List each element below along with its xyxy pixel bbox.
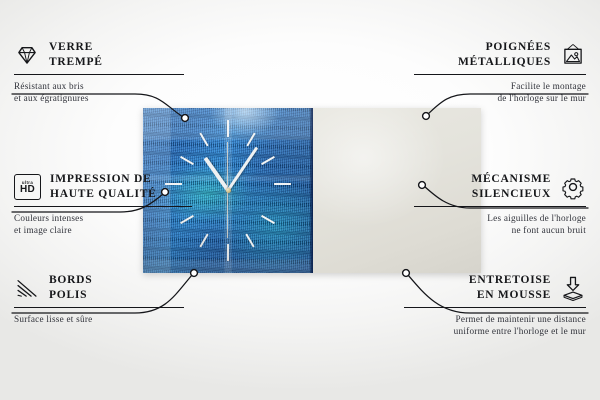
callout-header: ENTRETOISE EN MOUSSE bbox=[404, 273, 586, 303]
badge-main-text: HD bbox=[20, 185, 35, 195]
callout-impression-haute-qualite: ultra HD IMPRESSION DE HAUTE QUALITÉ Cou… bbox=[14, 172, 192, 237]
title-line-2: EN MOUSSE bbox=[477, 289, 551, 301]
callout-subtitle: Surface lisse et sûre bbox=[14, 313, 184, 325]
callout-entretoise-en-mousse: ENTRETOISE EN MOUSSE Permet de maintenir… bbox=[404, 273, 586, 338]
tick-11 bbox=[199, 133, 208, 147]
tick-7 bbox=[199, 234, 208, 248]
callout-divider bbox=[14, 307, 184, 308]
callout-header: BORDS POLIS bbox=[14, 273, 184, 303]
title-line-1: POIGNÉES bbox=[486, 41, 551, 53]
tick-2 bbox=[261, 156, 275, 165]
callout-title: MÉCANISME SILENCIEUX bbox=[471, 172, 551, 202]
callout-header: POIGNÉES MÉTALLIQUES bbox=[414, 40, 586, 70]
callout-bords-polis: BORDS POLIS Surface lisse et sûre bbox=[14, 273, 184, 325]
callout-verre-trempe: VERRE TREMPÉ Résistant aux bris et aux é… bbox=[14, 40, 184, 105]
subtitle-line-1: Les aiguilles de l'horloge bbox=[487, 213, 586, 223]
callout-subtitle: Les aiguilles de l'horloge ne font aucun… bbox=[414, 212, 586, 236]
subtitle-line-1: Couleurs intenses bbox=[14, 213, 83, 223]
arrow-down-onto-layer-icon bbox=[560, 275, 586, 301]
subtitle-line-2: et aux égratignures bbox=[14, 93, 89, 103]
subtitle-line-1: Surface lisse et sûre bbox=[14, 314, 92, 324]
tick-12 bbox=[227, 120, 229, 137]
callout-subtitle: Résistant aux bris et aux égratignures bbox=[14, 80, 184, 104]
callout-poignees-metalliques: POIGNÉES MÉTALLIQUES Facilite le montage… bbox=[414, 40, 586, 105]
callout-title: IMPRESSION DE HAUTE QUALITÉ bbox=[50, 172, 157, 202]
gear-icon bbox=[560, 174, 586, 200]
subtitle-line-1: Résistant aux bris bbox=[14, 81, 84, 91]
callout-divider bbox=[404, 307, 586, 308]
callout-subtitle: Couleurs intenses et image claire bbox=[14, 212, 192, 236]
title-line-2: MÉTALLIQUES bbox=[458, 56, 551, 68]
infographic-canvas: VERRE TREMPÉ Résistant aux bris et aux é… bbox=[0, 0, 600, 400]
title-line-2: TREMPÉ bbox=[49, 56, 103, 68]
callout-header: MÉCANISME SILENCIEUX bbox=[414, 172, 586, 202]
subtitle-line-2: de l'horloge sur le mur bbox=[497, 93, 586, 103]
callout-title: POIGNÉES MÉTALLIQUES bbox=[458, 40, 551, 70]
subtitle-line-2: uniforme entre l'horloge et le mur bbox=[454, 326, 586, 336]
hanging-picture-frame-icon bbox=[560, 42, 586, 68]
title-line-1: IMPRESSION DE bbox=[50, 173, 151, 185]
title-line-2: HAUTE QUALITÉ bbox=[50, 188, 157, 200]
title-line-2: SILENCIEUX bbox=[472, 188, 551, 200]
callout-divider bbox=[14, 74, 184, 75]
ultra-hd-badge-icon: ultra HD bbox=[14, 174, 41, 200]
callout-header: VERRE TREMPÉ bbox=[14, 40, 184, 70]
callout-subtitle: Permet de maintenir une distance uniform… bbox=[404, 313, 586, 337]
callout-divider bbox=[414, 74, 586, 75]
callout-title: BORDS POLIS bbox=[49, 273, 92, 303]
title-line-1: ENTRETOISE bbox=[469, 274, 551, 286]
title-line-1: BORDS bbox=[49, 274, 92, 286]
callout-divider bbox=[414, 206, 586, 207]
clock-hand-hour bbox=[204, 157, 230, 192]
diagonal-lines-icon bbox=[14, 275, 40, 301]
callout-divider bbox=[14, 206, 192, 207]
subtitle-line-1: Permet de maintenir une distance bbox=[456, 314, 586, 324]
callout-title: VERRE TREMPÉ bbox=[49, 40, 103, 70]
clock-hand-minute bbox=[227, 147, 259, 192]
subtitle-line-1: Facilite le montage bbox=[511, 81, 586, 91]
clock-center-cap bbox=[226, 188, 231, 193]
callout-subtitle: Facilite le montage de l'horloge sur le … bbox=[414, 80, 586, 104]
title-line-2: POLIS bbox=[49, 289, 87, 301]
tick-3 bbox=[274, 183, 291, 185]
tick-4 bbox=[261, 215, 275, 224]
tick-6 bbox=[227, 244, 229, 261]
tick-10 bbox=[180, 156, 194, 165]
callout-header: ultra HD IMPRESSION DE HAUTE QUALITÉ bbox=[14, 172, 192, 202]
tick-5 bbox=[245, 234, 254, 248]
title-line-1: VERRE bbox=[49, 41, 93, 53]
callout-title: ENTRETOISE EN MOUSSE bbox=[469, 273, 551, 303]
tick-1 bbox=[246, 133, 255, 147]
subtitle-line-2: et image claire bbox=[14, 225, 72, 235]
callout-mecanisme-silencieux: MÉCANISME SILENCIEUX Les aiguilles de l'… bbox=[414, 172, 586, 237]
title-line-1: MÉCANISME bbox=[471, 173, 551, 185]
subtitle-line-2: ne font aucun bruit bbox=[512, 225, 586, 235]
diamond-icon bbox=[14, 42, 40, 68]
